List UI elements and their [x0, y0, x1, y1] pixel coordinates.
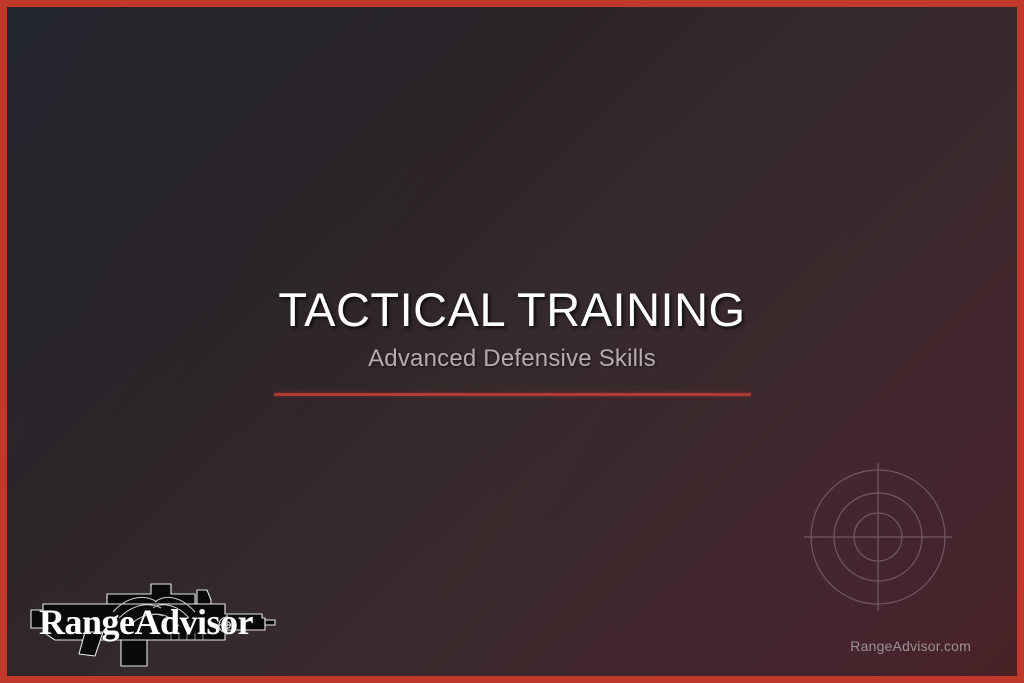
presentation-slide: TACTICAL TRAINING Advanced Defensive Ski… [0, 0, 1024, 683]
footer-url: RangeAdvisor.com [850, 638, 971, 654]
page-title: TACTICAL TRAINING [7, 285, 1017, 334]
crosshair-target-icon [803, 462, 953, 612]
page-subtitle: Advanced Defensive Skills [7, 345, 1017, 373]
title-divider [274, 393, 751, 396]
brand-logo: RangeAdvisor [29, 570, 279, 668]
title-block: TACTICAL TRAINING Advanced Defensive Ski… [7, 285, 1017, 396]
logo-wordmark: RangeAdvisor [39, 602, 254, 642]
